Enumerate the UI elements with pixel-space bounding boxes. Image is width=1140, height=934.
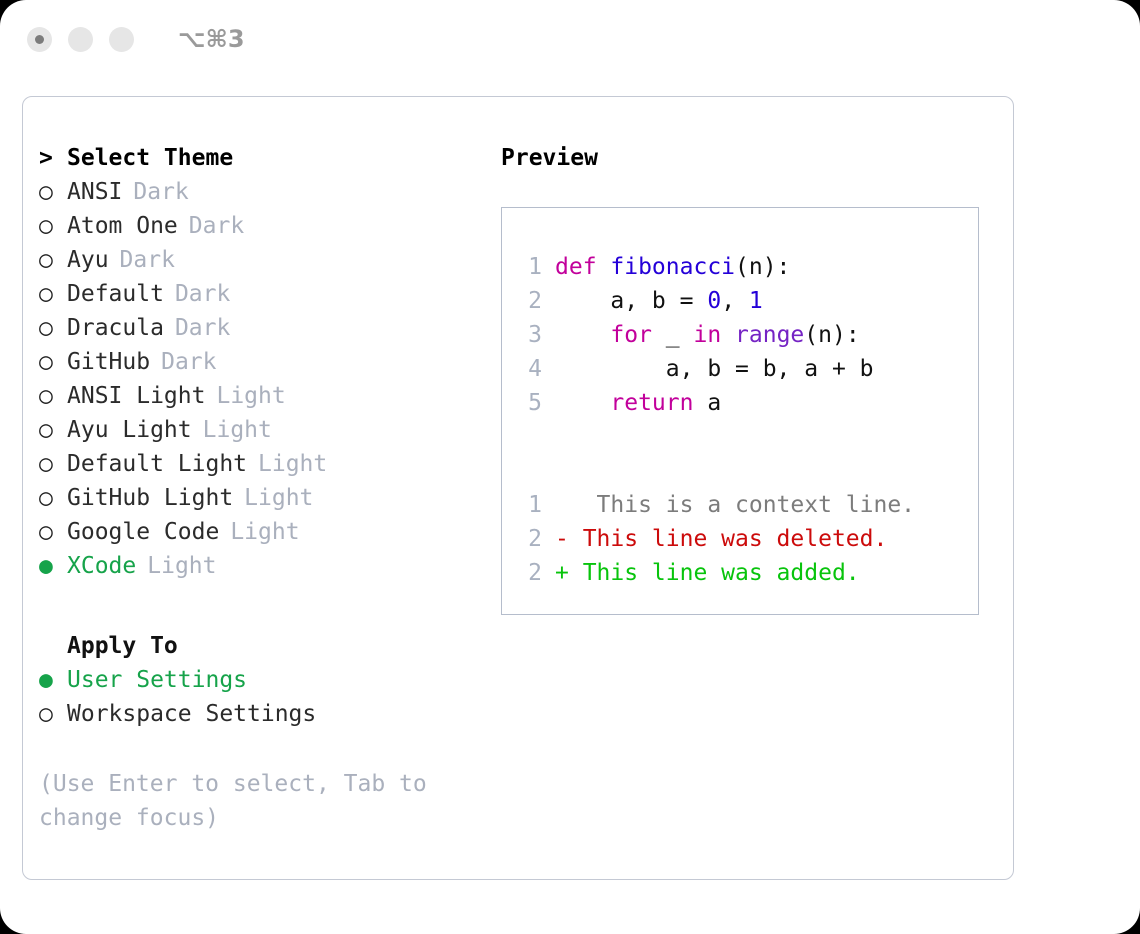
code-token-plain: a [693, 390, 721, 416]
theme-name-label: ANSI [67, 179, 122, 205]
code-line-number: 5 [520, 386, 542, 420]
window-dot-maximize[interactable] [109, 27, 134, 52]
radio-unselected-icon: ○ [39, 209, 67, 243]
radio-unselected-icon: ○ [39, 515, 67, 549]
diff-line-number: 2 [520, 556, 542, 590]
code-line: 2 a, b = 0, 1 [502, 284, 978, 318]
theme-list-item[interactable]: ○Atom OneDark [39, 209, 479, 243]
theme-list-item[interactable]: ○GitHubDark [39, 345, 479, 379]
code-line-number: 1 [520, 250, 542, 284]
code-token-num: 0 [707, 288, 721, 314]
theme-list-item[interactable]: ○ANSIDark [39, 175, 479, 209]
radio-selected-icon: ● [39, 549, 67, 583]
window-dot-minimize[interactable] [68, 27, 93, 52]
theme-kind-label: Dark [175, 315, 230, 341]
window-dot-close[interactable] [27, 27, 52, 52]
diff-sample: 1 This is a context line.2- This line wa… [502, 488, 978, 590]
code-diff-spacer [502, 420, 978, 454]
apply-to-item[interactable]: ○Workspace Settings [39, 697, 479, 731]
diff-line: 2+ This line was added. [502, 556, 978, 590]
theme-list-item[interactable]: ○AyuDark [39, 243, 479, 277]
apply-to-label: User Settings [67, 667, 247, 693]
theme-list-item[interactable]: ○DefaultDark [39, 277, 479, 311]
theme-selection-column: >Select Theme ○ANSIDark○Atom OneDark○Ayu… [39, 141, 479, 835]
code-line-number: 3 [520, 318, 542, 352]
theme-kind-label: Dark [175, 281, 230, 307]
apply-to-item[interactable]: ●User Settings [39, 663, 479, 697]
code-token-plain [555, 390, 610, 416]
code-token-fn: fibonacci [610, 254, 735, 280]
code-line: 1def fibonacci(n): [502, 250, 978, 284]
diff-line-text-ctx: This is a context line. [555, 492, 915, 518]
preview-box: 1def fibonacci(n):2 a, b = 0, 13 for _ i… [501, 207, 979, 615]
radio-selected-icon: ● [39, 663, 67, 697]
theme-kind-label: Light [203, 417, 272, 443]
code-line: 4 a, b = b, a + b [502, 352, 978, 386]
theme-kind-label: Dark [133, 179, 188, 205]
select-theme-heading: >Select Theme [39, 141, 479, 175]
code-token-plain: a, b = b, a + b [555, 356, 874, 382]
code-token-plain [721, 322, 735, 348]
code-token-kw: in [693, 322, 721, 348]
radio-unselected-icon: ○ [39, 447, 67, 481]
theme-name-label: Ayu Light [67, 417, 192, 443]
code-token-plain: _ [652, 322, 694, 348]
keyboard-shortcut-label: ⌥⌘3 [178, 25, 245, 53]
code-diff-spacer-2 [502, 454, 978, 488]
preview-column: Preview 1def fibonacci(n):2 a, b = 0, 13… [501, 141, 1001, 615]
theme-kind-label: Light [230, 519, 299, 545]
code-token-plain: , [721, 288, 749, 314]
theme-list-item[interactable]: ○GitHub LightLight [39, 481, 479, 515]
theme-name-label: Atom One [67, 213, 178, 239]
preview-heading: Preview [501, 141, 1001, 175]
theme-kind-label: Light [244, 485, 313, 511]
code-token-kw: for [610, 322, 652, 348]
diff-line-number: 1 [520, 488, 542, 522]
select-theme-heading-label: Select Theme [67, 145, 233, 171]
window-dot-close-inner [35, 35, 44, 44]
radio-unselected-icon: ○ [39, 379, 67, 413]
theme-name-label: Default [67, 281, 164, 307]
theme-kind-label: Light [147, 553, 216, 579]
code-token-plain: (n): [804, 322, 859, 348]
section-spacer [39, 583, 479, 629]
theme-name-label: Default Light [67, 451, 247, 477]
theme-kind-label: Light [216, 383, 285, 409]
diff-line: 1 This is a context line. [502, 488, 978, 522]
theme-kind-label: Dark [189, 213, 244, 239]
radio-unselected-icon: ○ [39, 697, 67, 731]
code-token-plain [555, 322, 610, 348]
radio-unselected-icon: ○ [39, 481, 67, 515]
code-token-plain: (n): [735, 254, 790, 280]
code-line: 3 for _ in range(n): [502, 318, 978, 352]
radio-unselected-icon: ○ [39, 345, 67, 379]
theme-name-label: ANSI Light [67, 383, 205, 409]
radio-unselected-icon: ○ [39, 413, 67, 447]
code-sample: 1def fibonacci(n):2 a, b = 0, 13 for _ i… [502, 250, 978, 420]
code-line-number: 4 [520, 352, 542, 386]
theme-list-item[interactable]: ●XCodeLight [39, 549, 479, 583]
diff-line-number: 2 [520, 522, 542, 556]
code-token-kw: return [610, 390, 693, 416]
diff-line-text-add: + This line was added. [555, 560, 860, 586]
radio-unselected-icon: ○ [39, 277, 67, 311]
main-panel: >Select Theme ○ANSIDark○Atom OneDark○Ayu… [22, 96, 1014, 880]
theme-name-label: Dracula [67, 315, 164, 341]
theme-name-label: Ayu [67, 247, 109, 273]
theme-list[interactable]: ○ANSIDark○Atom OneDark○AyuDark○DefaultDa… [39, 175, 479, 583]
app-window: ⌥⌘3 >Select Theme ○ANSIDark○Atom OneDark… [0, 0, 1140, 934]
radio-unselected-icon: ○ [39, 311, 67, 345]
theme-kind-label: Dark [161, 349, 216, 375]
theme-name-label: XCode [67, 553, 136, 579]
theme-list-item[interactable]: ○ANSI LightLight [39, 379, 479, 413]
radio-unselected-icon: ○ [39, 175, 67, 209]
title-bar: ⌥⌘3 [0, 0, 1140, 78]
code-token-call: range [735, 322, 804, 348]
theme-kind-label: Dark [120, 247, 175, 273]
apply-to-heading: Apply To [39, 629, 479, 663]
code-line-number: 2 [520, 284, 542, 318]
diff-line: 2- This line was deleted. [502, 522, 978, 556]
keyboard-hint-text: (Use Enter to select, Tab to change focu… [39, 767, 439, 835]
theme-list-item[interactable]: ○Ayu LightLight [39, 413, 479, 447]
panel-content: >Select Theme ○ANSIDark○Atom OneDark○Ayu… [23, 97, 1013, 879]
theme-name-label: GitHub [67, 349, 150, 375]
theme-kind-label: Light [258, 451, 327, 477]
theme-name-label: GitHub Light [67, 485, 233, 511]
code-token-kw: def [555, 254, 610, 280]
code-token-plain: a, b = [555, 288, 707, 314]
theme-list-item[interactable]: ○Default LightLight [39, 447, 479, 481]
code-token-num: 1 [749, 288, 763, 314]
code-line: 5 return a [502, 386, 978, 420]
prompt-caret-icon: > [39, 141, 67, 175]
theme-list-item[interactable]: ○Google CodeLight [39, 515, 479, 549]
apply-to-label: Workspace Settings [67, 701, 316, 727]
theme-list-item[interactable]: ○DraculaDark [39, 311, 479, 345]
diff-line-text-del: - This line was deleted. [555, 526, 887, 552]
apply-to-list[interactable]: ●User Settings○Workspace Settings [39, 663, 479, 731]
theme-name-label: Google Code [67, 519, 219, 545]
radio-unselected-icon: ○ [39, 243, 67, 277]
